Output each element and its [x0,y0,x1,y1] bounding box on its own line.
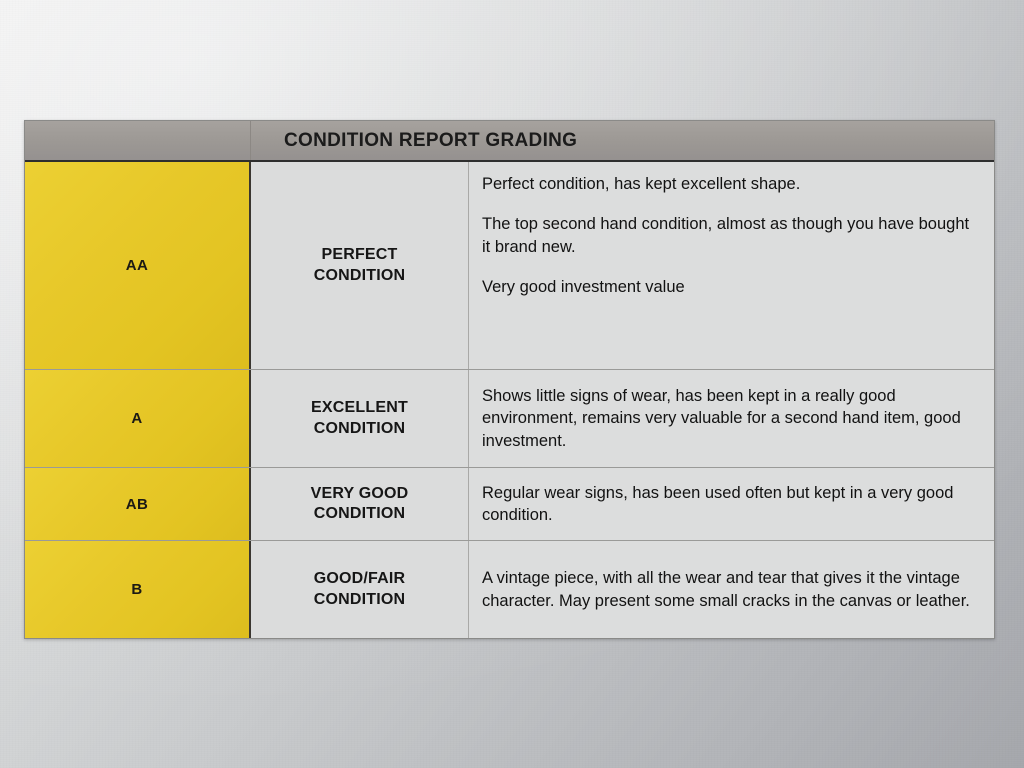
grade-code-ab: AB [25,468,251,540]
description-paragraph: Perfect condition, has kept excellent sh… [482,173,978,195]
table-header-left-spacer [25,121,251,160]
condition-name-line: CONDITION [314,266,406,286]
condition-name-line: EXCELLENT [311,398,408,418]
condition-name-line: CONDITION [314,419,406,439]
table-title: CONDITION REPORT GRADING [251,130,994,152]
condition-description-ab: Regular wear signs, has been used often … [469,468,994,540]
table-row: B GOOD/FAIR CONDITION A vintage piece, w… [25,541,994,638]
condition-report-grading-table: CONDITION REPORT GRADING AA PERFECT COND… [24,120,995,639]
description-paragraph: A vintage piece, with all the wear and t… [482,567,978,612]
condition-name-ab: VERY GOOD CONDITION [251,468,469,540]
grade-code-aa: AA [25,162,251,369]
condition-name-line: PERFECT [321,245,397,265]
grade-code-a: A [25,370,251,467]
description-paragraph: The top second hand condition, almost as… [482,213,978,258]
description-paragraph: Very good investment value [482,276,978,298]
condition-description-a: Shows little signs of wear, has been kep… [469,370,994,467]
condition-name-a: EXCELLENT CONDITION [251,370,469,467]
condition-name-line: CONDITION [314,590,406,610]
grade-code-b: B [25,541,251,638]
condition-description-aa: Perfect condition, has kept excellent sh… [469,162,994,369]
table-header-bar: CONDITION REPORT GRADING [25,121,994,162]
table-row: AB VERY GOOD CONDITION Regular wear sign… [25,468,994,541]
table-row: AA PERFECT CONDITION Perfect condition, … [25,162,994,370]
condition-name-aa: PERFECT CONDITION [251,162,469,369]
condition-name-line: GOOD/FAIR [314,569,406,589]
condition-name-b: GOOD/FAIR CONDITION [251,541,469,638]
condition-description-b: A vintage piece, with all the wear and t… [469,541,994,638]
condition-name-line: VERY GOOD [311,484,409,504]
description-paragraph: Regular wear signs, has been used often … [482,482,978,527]
table-row: A EXCELLENT CONDITION Shows little signs… [25,370,994,468]
condition-name-line: CONDITION [314,504,406,524]
description-paragraph: Shows little signs of wear, has been kep… [482,385,978,452]
